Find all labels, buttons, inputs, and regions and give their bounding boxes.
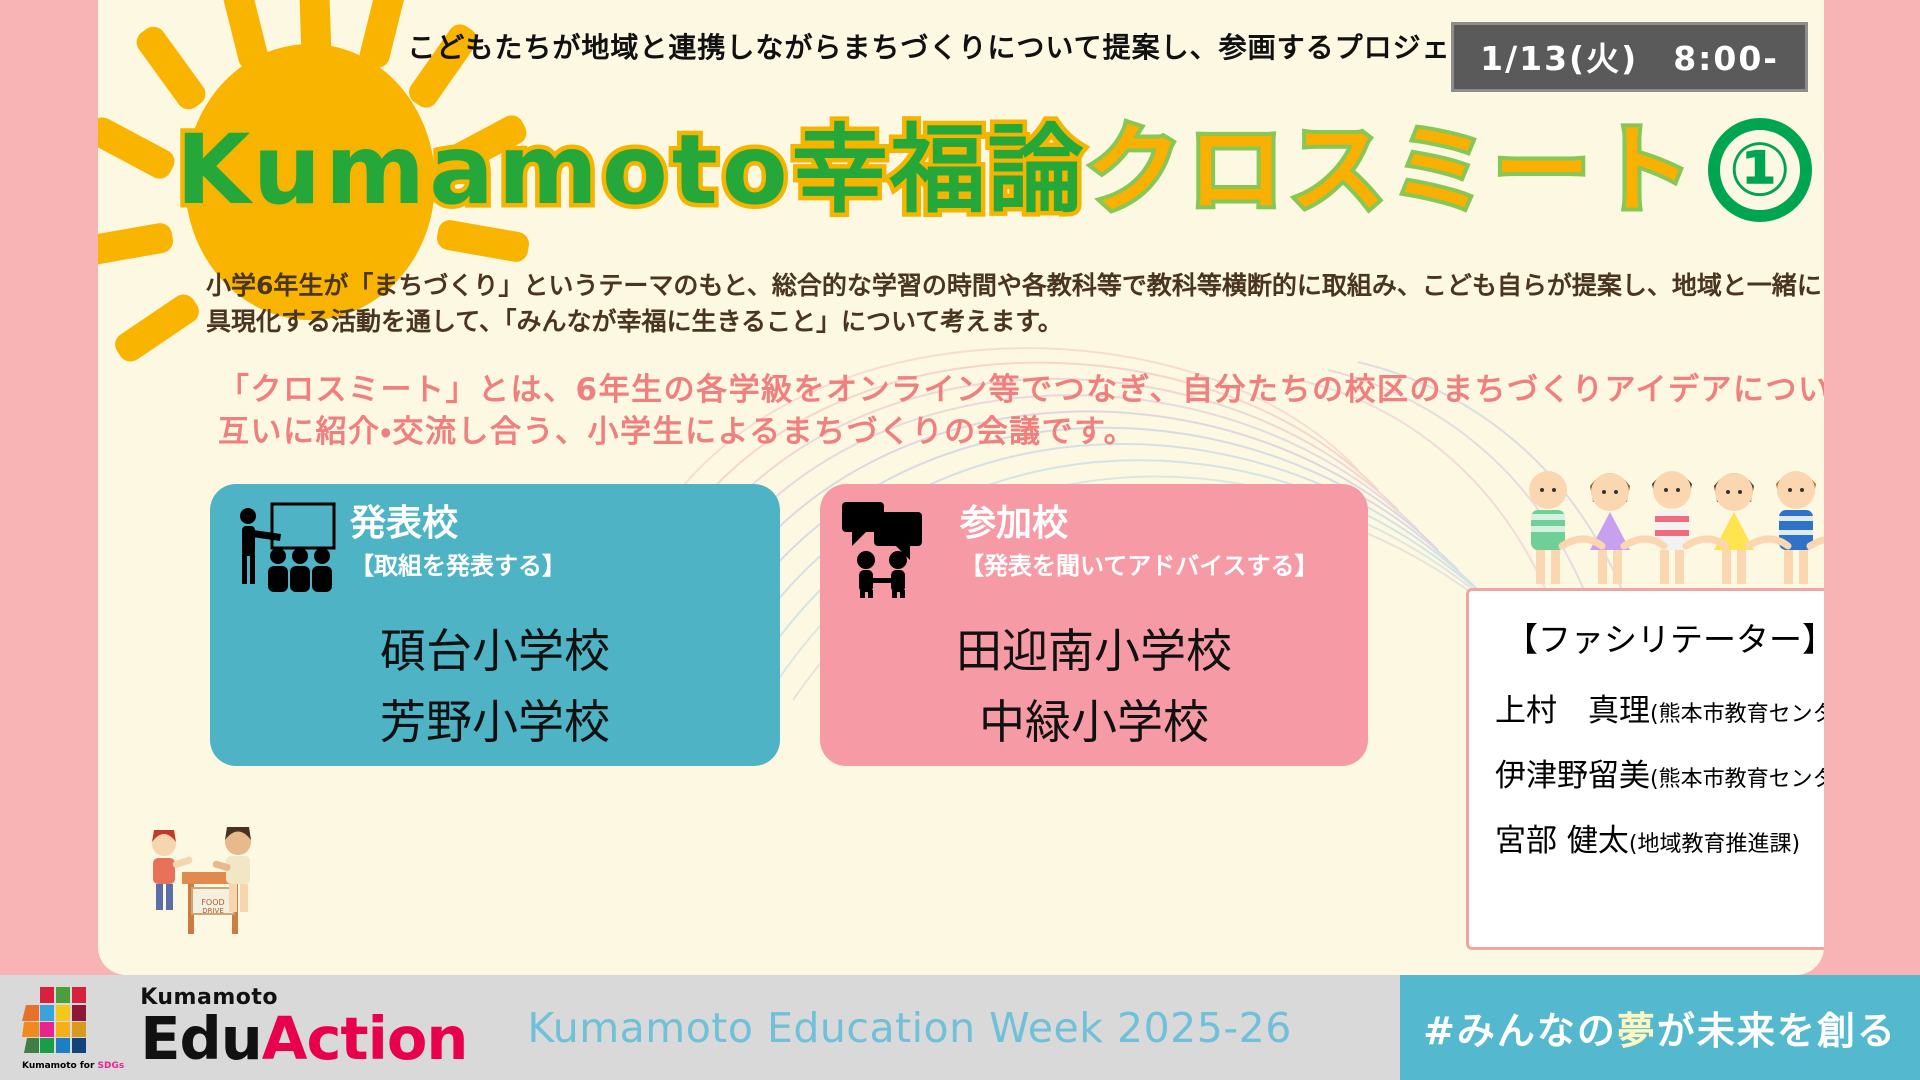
crossmeet-line-1: 「クロスミート」とは、6年生の各学級をオンライン等でつなぎ、自分たちの校区のまち… <box>218 370 1824 412</box>
hashtag-dream: 夢 <box>1617 1000 1657 1055</box>
card-title: 発表校 <box>350 504 566 544</box>
description-line-2: 具現化する活動を通して、「みんなが幸福に生きること」について考えます。 <box>206 304 1806 340</box>
facilitator-name: 上村 真理 <box>1495 693 1650 729</box>
sdgs-label: Kumamoto for SDGs <box>22 1061 124 1071</box>
page-body: こどもたちが地域と連携しながらまちづくりについて提案し、参画するプロジェクト 1… <box>98 0 1824 975</box>
svg-text:FOOD: FOOD <box>201 898 224 907</box>
logo-action-text: Action <box>262 1004 468 1073</box>
school-name: 碩台小学校 <box>210 616 780 687</box>
facilitator-org: (熊本市教育センター) <box>1650 767 1824 792</box>
hashtag-banner: #みんなの夢が未来を創る <box>1400 975 1920 1080</box>
school-list: 田迎南小学校 中緑小学校 <box>820 616 1368 759</box>
title-part-kanji: 幸福論 <box>792 122 1086 218</box>
facilitator-box: 【ファシリテーター】 上村 真理(熊本市教育センター) 伊津野留美(熊本市教育セ… <box>1466 588 1824 950</box>
footer-bar: Kumamoto for SDGs Kumamoto EduAction Kum… <box>0 975 1920 1080</box>
card-header-text: 参加校 【発表を聞いてアドバイスする】 <box>950 498 1319 581</box>
facilitator-org: (地域教育推進課) <box>1629 832 1800 857</box>
event-subtitle: こどもたちが地域と連携しながらまちづくりについて提案し、参画するプロジェクト <box>398 26 1518 66</box>
children-illustration <box>1518 450 1824 600</box>
card-subtitle: 【取組を発表する】 <box>350 546 566 581</box>
title-part-kana: クロスミート <box>1086 122 1698 218</box>
school-list: 碩台小学校 芳野小学校 <box>210 616 780 759</box>
hashtag-suffix: が未来を創る <box>1657 1000 1897 1055</box>
title-part-en: Kumamoto <box>176 122 792 218</box>
school-name: 田迎南小学校 <box>820 616 1368 687</box>
eduaction-logo: Kumamoto for SDGs Kumamoto EduAction <box>0 985 467 1071</box>
description-paragraph: 小学6年生が「まちづくり」というテーマのもと、総合的な学習の時間や各教科等で教科… <box>206 268 1806 341</box>
logo-eduaction-text: EduAction <box>140 1009 467 1068</box>
speech-bubbles-people-icon <box>838 498 950 598</box>
date-time-badge: 1/13(火) 8:00- <box>1451 22 1808 92</box>
svg-text:DRIVE: DRIVE <box>202 907 224 915</box>
sdgs-grid-icon <box>22 985 104 1055</box>
title-circle-number: ① <box>1708 118 1812 222</box>
facilitator-title: 【ファシリテーター】 <box>1495 613 1824 661</box>
facilitator-org: (熊本市教育センター) <box>1650 702 1824 727</box>
card-subtitle: 【発表を聞いてアドバイスする】 <box>960 546 1319 581</box>
logo-edu-text: Edu <box>140 1004 262 1073</box>
facilitator-item: 宮部 健太(地域教育推進課) <box>1495 815 1824 860</box>
description-line-1: 小学6年生が「まちづくり」というテーマのもと、総合的な学習の時間や各教科等で教科… <box>206 268 1806 304</box>
facilitator-item: 伊津野留美(熊本市教育センター) <box>1495 750 1824 795</box>
crossmeet-explanation: 「クロスミート」とは、6年生の各学級をオンライン等でつなぎ、自分たちの校区のまち… <box>218 370 1824 454</box>
card-header: 発表校 【取組を発表する】 <box>210 484 780 598</box>
food-drive-illustration: FOOD DRIVE <box>138 810 288 950</box>
facilitator-item: 上村 真理(熊本市教育センター) <box>1495 685 1824 730</box>
sdgs-logo: Kumamoto for SDGs <box>22 985 124 1071</box>
main-title: Kumamoto 幸福論 クロスミート ① <box>176 118 1812 222</box>
card-participating-schools[interactable]: 参加校 【発表を聞いてアドバイスする】 田迎南小学校 中緑小学校 <box>820 484 1368 766</box>
card-title: 参加校 <box>960 504 1319 544</box>
card-header-text: 発表校 【取組を発表する】 <box>340 498 566 581</box>
card-presenting-schools[interactable]: 発表校 【取組を発表する】 碩台小学校 芳野小学校 <box>210 484 780 766</box>
facilitator-name: 宮部 健太 <box>1495 823 1629 859</box>
slide-root: こどもたちが地域と連携しながらまちづくりについて提案し、参画するプロジェクト 1… <box>0 0 1920 1080</box>
school-name: 芳野小学校 <box>210 687 780 758</box>
eduaction-wordmark: Kumamoto EduAction <box>124 987 467 1068</box>
crossmeet-line-2: 互いに紹介・交流し合う、小学生によるまちづくりの会議です。 <box>218 412 1824 454</box>
presenter-board-icon <box>228 498 340 598</box>
hashtag-prefix: #みんなの <box>1423 1000 1617 1055</box>
facilitator-name: 伊津野留美 <box>1495 758 1650 794</box>
education-week-text: Kumamoto Education Week 2025-26 <box>467 1004 1400 1052</box>
card-header: 参加校 【発表を聞いてアドバイスする】 <box>820 484 1368 598</box>
school-name: 中緑小学校 <box>820 687 1368 758</box>
